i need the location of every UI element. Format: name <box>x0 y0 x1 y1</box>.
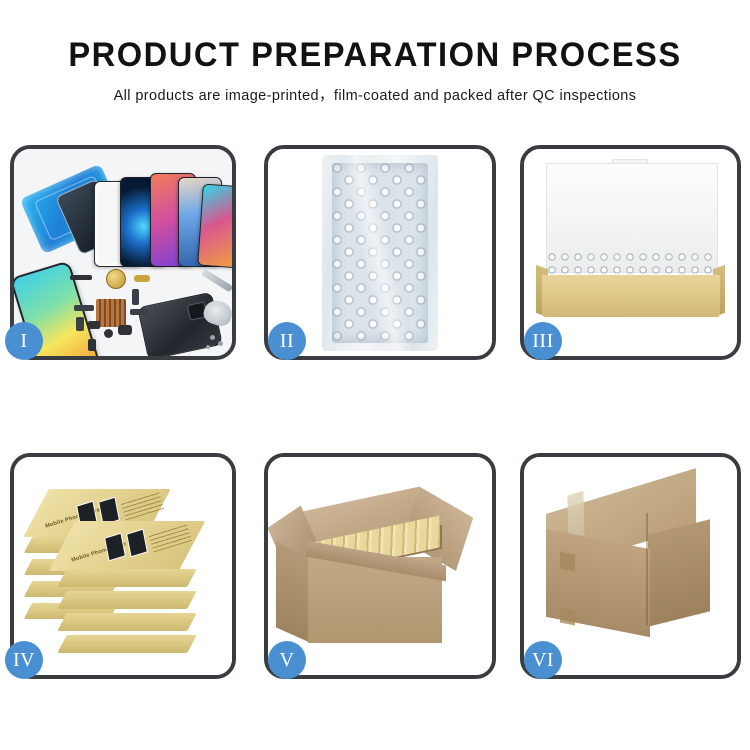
screw-part <box>206 345 210 349</box>
phone-display-gradient <box>197 184 232 269</box>
carton-corner-seam <box>646 513 648 625</box>
box-front-panel <box>542 275 720 317</box>
bubble-wrap-highlight <box>322 155 438 351</box>
screw-part <box>210 335 215 340</box>
spare-part <box>74 305 94 311</box>
screw-part <box>218 341 223 346</box>
spare-part <box>88 321 100 329</box>
spare-part <box>118 325 132 335</box>
retail-box-edge <box>57 569 197 587</box>
spare-part <box>104 329 113 338</box>
spare-part <box>70 275 92 280</box>
page-title: PRODUCT PREPARATION PROCESS <box>15 36 735 75</box>
spare-part <box>88 339 96 351</box>
step-badge-4: IV <box>5 641 43 679</box>
sealed-carton-right-side <box>648 519 710 626</box>
step-2-image <box>268 149 492 356</box>
retail-box-edge <box>57 613 197 631</box>
retail-box-edge <box>57 591 197 609</box>
chip-array-part <box>96 299 126 327</box>
step-badge-2: II <box>268 322 306 360</box>
carton-flap-tab <box>560 552 575 572</box>
step-badge-3: III <box>524 322 562 360</box>
spare-part <box>132 289 139 305</box>
step-4-image: Mobile Phone Spare Parts Mobile Phone Sp… <box>14 457 232 675</box>
page-header: PRODUCT PREPARATION PROCESS All products… <box>0 0 750 120</box>
step-5-image <box>268 457 492 675</box>
retail-box-stack: Mobile Phone Spare Parts Mobile Phone Sp… <box>22 477 222 657</box>
step-badge-1: I <box>5 322 43 360</box>
spare-part <box>130 309 148 315</box>
page-subtitle: All products are image-printed，film-coat… <box>0 84 750 105</box>
copper-coil-part <box>106 269 126 289</box>
step-3-image <box>524 149 737 356</box>
step-panel-1 <box>10 145 236 360</box>
carton-left-side <box>276 541 310 642</box>
phone-fan-group <box>94 167 232 267</box>
spare-part <box>134 275 150 282</box>
step-badge-6: VI <box>524 641 562 679</box>
spare-part <box>76 317 84 331</box>
carton-flap-tab <box>560 608 575 626</box>
step-badge-5: V <box>268 641 306 679</box>
step-6-image <box>524 457 737 675</box>
step-panel-4: Mobile Phone Spare Parts Mobile Phone Sp… <box>10 453 236 679</box>
retail-box-edge <box>57 635 197 653</box>
step-1-image <box>14 149 232 356</box>
